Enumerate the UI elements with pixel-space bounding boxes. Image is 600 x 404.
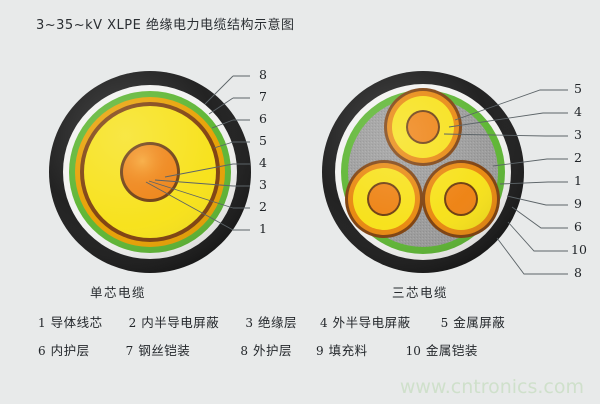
legend-label-3: 绝缘层 [258, 312, 297, 331]
legend-item-1: 1 导体线芯 [38, 312, 103, 331]
legend-num-1: 1 [38, 316, 46, 330]
legend: 1 导体线芯 2 内半导电屏蔽 3 绝缘层 4 外半导电屏蔽 5 金属屏蔽 6 [0, 312, 600, 368]
legend-num-9: 9 [316, 344, 324, 358]
callout-three-7: 10 [571, 244, 587, 257]
callout-single-6: 2 [259, 201, 267, 214]
legend-label-1: 导体线芯 [51, 312, 103, 331]
legend-num-4: 4 [320, 316, 328, 330]
callout-three-6: 6 [574, 221, 582, 234]
callout-single-1: 7 [259, 91, 267, 104]
legend-row-1: 1 导体线芯 2 内半导电屏蔽 3 绝缘层 4 外半导电屏蔽 5 金属屏蔽 [0, 312, 600, 340]
caption-single-core: 单芯电缆 [90, 282, 146, 301]
callout-three-0: 5 [574, 83, 582, 96]
legend-num-6: 6 [38, 344, 46, 358]
legend-num-8: 8 [240, 344, 248, 358]
legend-label-7: 钢丝铠装 [138, 340, 190, 359]
callout-three-4: 1 [574, 175, 582, 188]
legend-label-9: 填充料 [329, 340, 368, 359]
legend-item-6: 6 内护层 [38, 340, 90, 359]
caption-three-core: 三芯电缆 [392, 282, 448, 301]
cable-gloss-three [322, 71, 524, 273]
legend-num-2: 2 [129, 316, 137, 330]
legend-num-5: 5 [441, 316, 449, 330]
single-core-cable-diagram [49, 71, 251, 273]
callout-three-1: 4 [574, 106, 582, 119]
legend-row-2: 6 内护层 7 钢丝铠装 8 外护层 9 填充料 10 金属铠装 [0, 340, 600, 368]
callout-three-2: 3 [574, 129, 582, 142]
legend-label-2: 内半导电屏蔽 [141, 312, 219, 331]
legend-num-3: 3 [245, 316, 253, 330]
callout-single-0: 8 [259, 69, 267, 82]
site-watermark: www.cntronics.com [400, 376, 584, 398]
legend-item-10: 10 金属铠装 [406, 340, 478, 359]
legend-item-4: 4 外半导电屏蔽 [320, 312, 411, 331]
legend-num-7: 7 [126, 344, 134, 358]
legend-item-3: 3 绝缘层 [245, 312, 297, 331]
legend-label-8: 外护层 [253, 340, 292, 359]
callout-single-2: 6 [259, 113, 267, 126]
legend-label-5: 金属屏蔽 [453, 312, 505, 331]
three-core-cable-diagram [322, 71, 568, 274]
legend-item-5: 5 金属屏蔽 [441, 312, 506, 331]
callout-single-3: 5 [259, 135, 267, 148]
diagram-canvas: 3~35~kV XLPE 绝缘电力电缆结构示意图 [0, 0, 600, 404]
callout-three-5: 9 [574, 198, 582, 211]
cable-gloss-single [49, 71, 251, 273]
legend-item-2: 2 内半导电屏蔽 [129, 312, 220, 331]
legend-item-9: 9 填充料 [316, 340, 368, 359]
callout-single-4: 4 [259, 157, 267, 170]
callout-three-8: 8 [574, 267, 582, 280]
legend-item-7: 7 钢丝铠装 [126, 340, 191, 359]
callout-single-5: 3 [259, 179, 267, 192]
legend-label-4: 外半导电屏蔽 [333, 312, 411, 331]
legend-label-10: 金属铠装 [426, 340, 478, 359]
legend-num-10: 10 [406, 344, 421, 358]
callout-single-7: 1 [259, 223, 267, 236]
legend-item-8: 8 外护层 [240, 340, 292, 359]
callout-three-3: 2 [574, 152, 582, 165]
legend-label-6: 内护层 [51, 340, 90, 359]
